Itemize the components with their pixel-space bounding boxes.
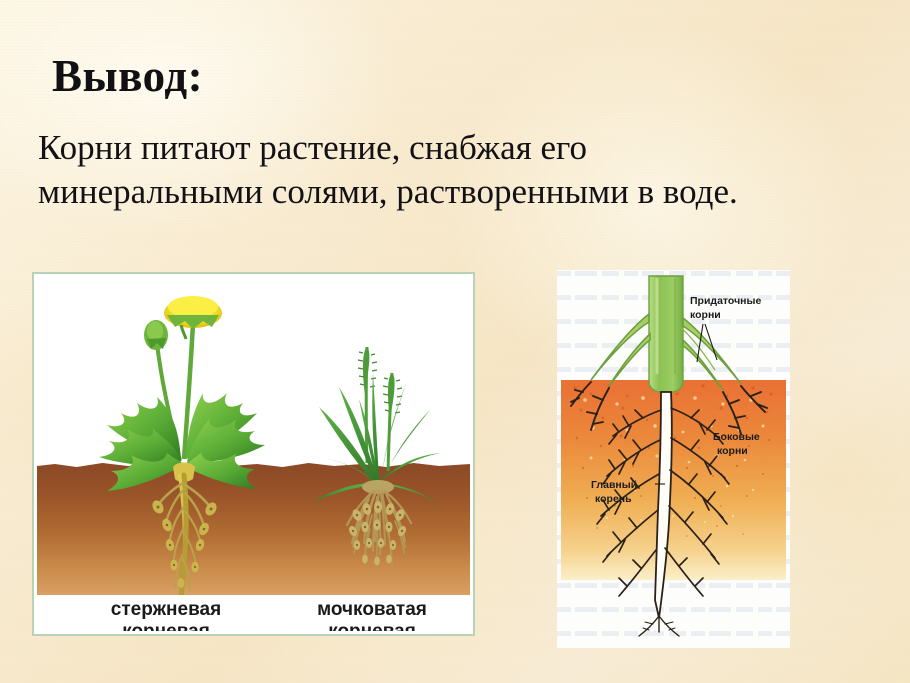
body-line-2: минеральными солями, растворенными в вод…: [38, 170, 888, 214]
caption-strip: стержневая корневая система мочковатая к…: [37, 595, 470, 631]
label-main-line-2: корень: [595, 493, 632, 505]
caption-fibrous-line-2: корневая: [277, 621, 467, 631]
caption-fibrous-line-1: мочковатая: [277, 599, 467, 621]
page-title: Вывод:: [52, 54, 203, 99]
label-lateral-line-2: корни: [717, 445, 748, 457]
grass-plant: [295, 303, 455, 593]
label-main-line-1: Главный: [591, 479, 637, 491]
root-anatomy-diagram: Придаточные корни Боковые корни Главный …: [557, 270, 790, 648]
body-line-1: Корни питают растение, снабжая его: [38, 126, 888, 170]
root-systems-photo-panel: стержневая корневая система мочковатая к…: [32, 272, 475, 636]
caption-taproot-line-2: корневая: [71, 621, 261, 631]
caption-taproot-line-1: стержневая: [71, 599, 261, 621]
root-systems-scene: стержневая корневая система мочковатая к…: [37, 277, 470, 631]
caption-fibrous-system: мочковатая корневая система: [277, 599, 467, 631]
dandelion-plant: [85, 283, 285, 603]
label-adventitious-line-2: корни: [690, 309, 721, 321]
caption-taproot-system: стержневая корневая система: [71, 599, 261, 631]
label-lateral-line-1: Боковые: [713, 431, 760, 443]
body-text: Корни питают растение, снабжая его минер…: [38, 126, 888, 214]
slide-canvas: Вывод: Корни питают растение, снабжая ег…: [0, 0, 910, 683]
root-anatomy-diagram-panel: Придаточные корни Боковые корни Главный …: [557, 270, 790, 648]
label-adventitious-line-1: Придаточные: [690, 295, 761, 307]
plant-stem: [649, 276, 683, 392]
label-adventitious-roots: Придаточные корни: [690, 295, 761, 362]
